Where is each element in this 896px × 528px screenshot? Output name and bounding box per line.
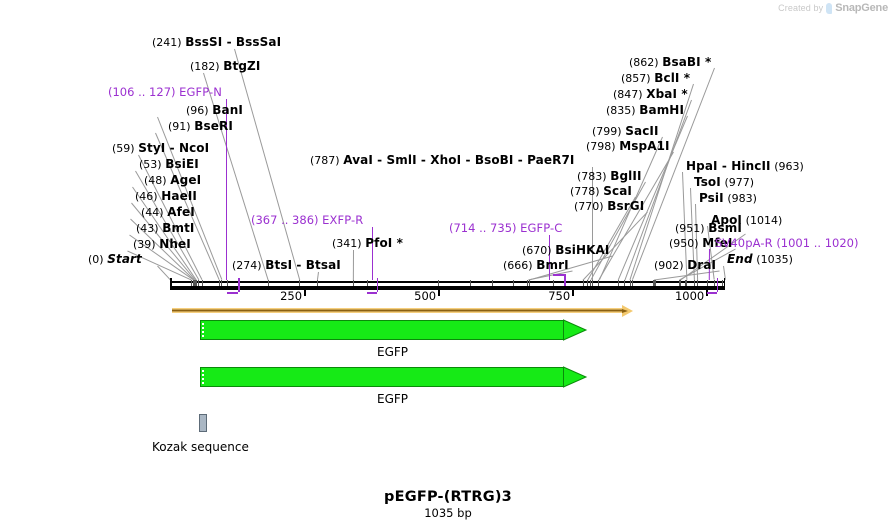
- label-position: (798): [586, 140, 616, 153]
- ruler-tick-label: 250: [280, 289, 304, 303]
- enzyme-label[interactable]: (44) AfeI: [141, 206, 195, 219]
- restriction-site-tick: [598, 280, 599, 286]
- label-name: PsiI: [699, 191, 724, 205]
- label-position: (670): [522, 244, 552, 257]
- watermark-brand: SnapGene: [835, 2, 888, 14]
- restriction-site-tick: [202, 280, 203, 286]
- page-title: pEGFP-(RTRG)3: [0, 489, 896, 505]
- enzyme-label[interactable]: (39) NheI: [133, 238, 191, 251]
- watermark-prefix: Created by: [778, 3, 823, 13]
- label-position: (714 .. 735): [449, 221, 517, 235]
- enzyme-label[interactable]: (91) BseRI: [168, 120, 233, 133]
- label-name: SacII: [625, 124, 658, 138]
- restriction-site-tick: [513, 280, 514, 286]
- label-position: (1001 .. 1020): [776, 236, 858, 250]
- restriction-site-tick: [618, 280, 619, 286]
- enzyme-label[interactable]: (666) BmrI: [503, 259, 569, 272]
- orf-arrow-head-inner: [622, 309, 628, 313]
- enzyme-label[interactable]: (862) BsaBI *: [629, 56, 711, 69]
- ruler-tick: [572, 290, 574, 296]
- enzyme-label[interactable]: (857) BclI *: [621, 72, 690, 85]
- ruler-tick-label: 750: [548, 289, 572, 303]
- label-name: BtsI - BtsaI: [265, 258, 341, 272]
- label-leader-line: [592, 167, 593, 280]
- egfp-feature-arrow[interactable]: [200, 320, 585, 340]
- restriction-site-tick: [299, 280, 300, 286]
- label-position: (48): [144, 174, 167, 187]
- enzyme-label[interactable]: (787) AvaI - SmlI - XhoI - BsoBI - PaeR7…: [310, 154, 574, 167]
- label-name: PfoI *: [365, 236, 403, 250]
- feature-span-tick: [377, 278, 379, 292]
- label-position: (0): [88, 253, 104, 266]
- egfp-arrow-head: [563, 366, 587, 388]
- restriction-site-tick: [630, 280, 631, 286]
- label-position: (182): [190, 60, 220, 73]
- egfp-arrow-body: [200, 367, 563, 387]
- start-label[interactable]: (0) Start: [88, 253, 142, 266]
- feature-label[interactable]: (714 .. 735) EGFP-C: [449, 222, 562, 234]
- egfp-feature-label: EGFP: [200, 392, 585, 406]
- label-position: (241): [152, 36, 182, 49]
- label-position: (835): [606, 104, 636, 117]
- label-position: (783): [577, 170, 607, 183]
- label-position: (963): [774, 160, 804, 173]
- restriction-site-tick: [722, 280, 723, 286]
- label-position: (341): [332, 237, 362, 250]
- label-position: (857): [621, 72, 651, 85]
- restriction-site-tick: [438, 280, 439, 286]
- plasmid-length: 1035 bp: [0, 506, 896, 520]
- label-name: HpaI - HincII: [686, 159, 771, 173]
- label-name: BsiHKAI: [555, 243, 609, 257]
- feature-span-mark[interactable]: [227, 292, 238, 294]
- enzyme-label[interactable]: (798) MspA1I: [586, 140, 670, 153]
- enzyme-label[interactable]: (53) BsiEI: [139, 158, 199, 171]
- ruler-tick-label: 1000: [675, 289, 706, 303]
- restriction-site-tick: [317, 280, 318, 286]
- label-position: (951): [675, 222, 705, 235]
- label-name: BtgZI: [223, 59, 260, 73]
- restriction-site-tick: [592, 280, 593, 286]
- label-name: EGFP-N: [179, 85, 222, 99]
- feature-span-mark[interactable]: [367, 292, 377, 294]
- enzyme-label[interactable]: (778) ScaI: [570, 185, 632, 198]
- label-position: (862): [629, 56, 659, 69]
- label-name: EGFP-C: [520, 221, 562, 235]
- enzyme-label[interactable]: (670) BsiHKAI: [522, 244, 609, 257]
- label-position: (977): [725, 176, 755, 189]
- label-name: BseRI: [194, 119, 233, 133]
- label-name: EXFP-R: [322, 213, 363, 227]
- label-position: (1035): [756, 253, 793, 266]
- restriction-site-tick: [196, 280, 197, 286]
- restriction-site-tick: [227, 280, 228, 286]
- restriction-site-tick: [470, 280, 471, 286]
- enzyme-label[interactable]: (783) BglII: [577, 170, 642, 183]
- label-name: ApoI: [711, 213, 742, 227]
- egfp-arrow-left-edge: [202, 321, 204, 339]
- feature-span-tick: [564, 274, 566, 286]
- label-name: AvaI - SmlI - XhoI - BsoBI - PaeR7I: [343, 153, 574, 167]
- ruler-start-cap: [170, 278, 172, 286]
- restriction-site-tick: [529, 280, 530, 286]
- ruler-tick: [438, 290, 440, 296]
- restriction-site-tick: [492, 280, 493, 286]
- restriction-site-tick: [553, 280, 554, 286]
- label-leader-line: [372, 227, 373, 280]
- label-name: AgeI: [170, 173, 201, 187]
- enzyme-label[interactable]: (182) BtgZI: [190, 60, 260, 73]
- restriction-site-tick: [527, 280, 528, 286]
- label-name: BglII: [610, 169, 641, 183]
- label-name: NheI: [159, 237, 191, 251]
- restriction-site-tick: [632, 280, 633, 286]
- label-position: (787): [310, 154, 340, 167]
- ruler-tick: [304, 290, 306, 296]
- enzyme-label[interactable]: (770) BsrGI: [574, 200, 644, 213]
- restriction-site-tick: [714, 280, 715, 286]
- restriction-site-tick: [590, 280, 591, 286]
- feature-label[interactable]: SV40pA-R (1001 .. 1020): [715, 237, 858, 249]
- restriction-site-tick: [198, 280, 199, 286]
- egfp-feature-label: EGFP: [200, 345, 585, 359]
- label-position: (43): [136, 222, 159, 235]
- egfp-arrow-body: [200, 320, 563, 340]
- feature-span-tick: [238, 278, 240, 292]
- label-name: ScaI: [603, 184, 632, 198]
- label-name: AfeI: [167, 205, 195, 219]
- ruler-bar: [170, 286, 725, 290]
- enzyme-label[interactable]: (46) HaeII: [135, 190, 197, 203]
- ruler-end-cap: [724, 278, 726, 286]
- feature-span-tick: [717, 278, 719, 292]
- kozak-sequence-marker[interactable]: [199, 414, 207, 432]
- enzyme-label[interactable]: (835) BamHI: [606, 104, 684, 117]
- ruler-top-line: [170, 281, 725, 283]
- label-position: (53): [139, 158, 162, 171]
- label-name: BsrGI: [607, 199, 644, 213]
- label-name: BamHI: [639, 103, 684, 117]
- restriction-site-tick: [707, 280, 708, 286]
- orf-arrow-shaft: [172, 308, 622, 313]
- restriction-site-tick: [191, 280, 192, 286]
- label-position: (902): [654, 259, 684, 272]
- kozak-sequence-label: Kozak sequence: [152, 440, 249, 454]
- label-position: (1014): [746, 214, 783, 227]
- plasmid-map-canvas: Created by SnapGene (241) BssSI - BssSaI…: [0, 0, 896, 528]
- label-position: (96): [186, 104, 209, 117]
- egfp-feature-arrow[interactable]: [200, 367, 585, 387]
- label-position: (59): [112, 142, 135, 155]
- label-position: (983): [727, 192, 757, 205]
- enzyme-label[interactable]: (799) SacII: [592, 125, 659, 138]
- enzyme-label[interactable]: ApoI (1014): [711, 214, 782, 227]
- end-label[interactable]: End (1035): [727, 253, 793, 266]
- enzyme-label[interactable]: (48) AgeI: [144, 174, 201, 187]
- restriction-site-tick: [583, 280, 584, 286]
- label-position: (770): [574, 200, 604, 213]
- enzyme-label[interactable]: (847) XbaI *: [613, 88, 688, 101]
- restriction-site-tick: [694, 280, 695, 286]
- label-name: XbaI *: [646, 87, 687, 101]
- label-name: BclI *: [654, 71, 690, 85]
- label-position: (91): [168, 120, 191, 133]
- restriction-site-tick: [697, 280, 698, 286]
- enzyme-label[interactable]: (902) DraI: [654, 259, 716, 272]
- label-name: StyI - NcoI: [138, 141, 209, 155]
- enzyme-label[interactable]: (341) PfoI *: [332, 237, 403, 250]
- enzyme-label[interactable]: (274) BtsI - BtsaI: [232, 259, 341, 272]
- restriction-site-tick: [367, 280, 368, 286]
- enzyme-label[interactable]: HpaI - HincII (963): [686, 160, 804, 173]
- label-position: (274): [232, 259, 262, 272]
- enzyme-label[interactable]: (96) BanI: [186, 104, 243, 117]
- restriction-site-tick: [686, 280, 687, 286]
- snapgene-watermark: Created by SnapGene: [778, 2, 888, 14]
- restriction-site-tick: [587, 280, 588, 286]
- label-position: (950): [669, 237, 699, 250]
- label-name: MspA1I: [619, 139, 669, 153]
- restriction-site-tick: [680, 280, 681, 286]
- label-position: (799): [592, 125, 622, 138]
- enzyme-label[interactable]: PsiI (983): [699, 192, 757, 205]
- ruler-tick-label: 500: [414, 289, 438, 303]
- enzyme-label[interactable]: (43) BmtI: [136, 222, 195, 235]
- feature-span-mark[interactable]: [553, 274, 564, 276]
- enzyme-label[interactable]: (59) StyI - NcoI: [112, 142, 209, 155]
- label-position: (44): [141, 206, 164, 219]
- restriction-site-tick: [268, 280, 269, 286]
- label-position: (39): [133, 238, 156, 251]
- label-name: TsoI: [694, 175, 721, 189]
- restriction-site-tick: [624, 280, 625, 286]
- label-name: SV40pA-R: [715, 236, 773, 250]
- enzyme-label[interactable]: (241) BssSI - BssSaI: [152, 36, 281, 49]
- feature-span-mark[interactable]: [707, 292, 717, 294]
- restriction-site-tick: [655, 280, 656, 286]
- label-name: End: [727, 252, 753, 266]
- label-position: (367 .. 386): [251, 213, 319, 227]
- label-name: Start: [107, 252, 142, 266]
- label-leader-line: [317, 272, 319, 280]
- label-name: BmrI: [536, 258, 568, 272]
- label-leader-line: [353, 250, 354, 280]
- feature-label[interactable]: (106 .. 127) EGFP-N: [108, 86, 222, 98]
- snapgene-logo-icon: [826, 3, 832, 14]
- label-position: (778): [570, 185, 600, 198]
- label-position: (847): [613, 88, 643, 101]
- restriction-site-tick: [219, 280, 220, 286]
- restriction-site-tick: [353, 280, 354, 286]
- label-name: BanI: [212, 103, 243, 117]
- feature-label[interactable]: (367 .. 386) EXFP-R: [251, 214, 363, 226]
- label-leader-line: [234, 49, 300, 280]
- label-name: BssSI - BssSaI: [185, 35, 281, 49]
- label-name: BmtI: [162, 221, 194, 235]
- label-position: (106 .. 127): [108, 85, 176, 99]
- egfp-arrow-left-edge: [202, 368, 204, 386]
- label-name: DraI: [687, 258, 716, 272]
- label-name: BsiEI: [165, 157, 199, 171]
- egfp-arrow-head: [563, 319, 587, 341]
- label-name: HaeII: [161, 189, 197, 203]
- label-position: (666): [503, 259, 533, 272]
- label-name: BsaBI *: [662, 55, 711, 69]
- enzyme-label[interactable]: TsoI (977): [694, 176, 754, 189]
- label-position: (46): [135, 190, 158, 203]
- restriction-site-tick: [221, 280, 222, 286]
